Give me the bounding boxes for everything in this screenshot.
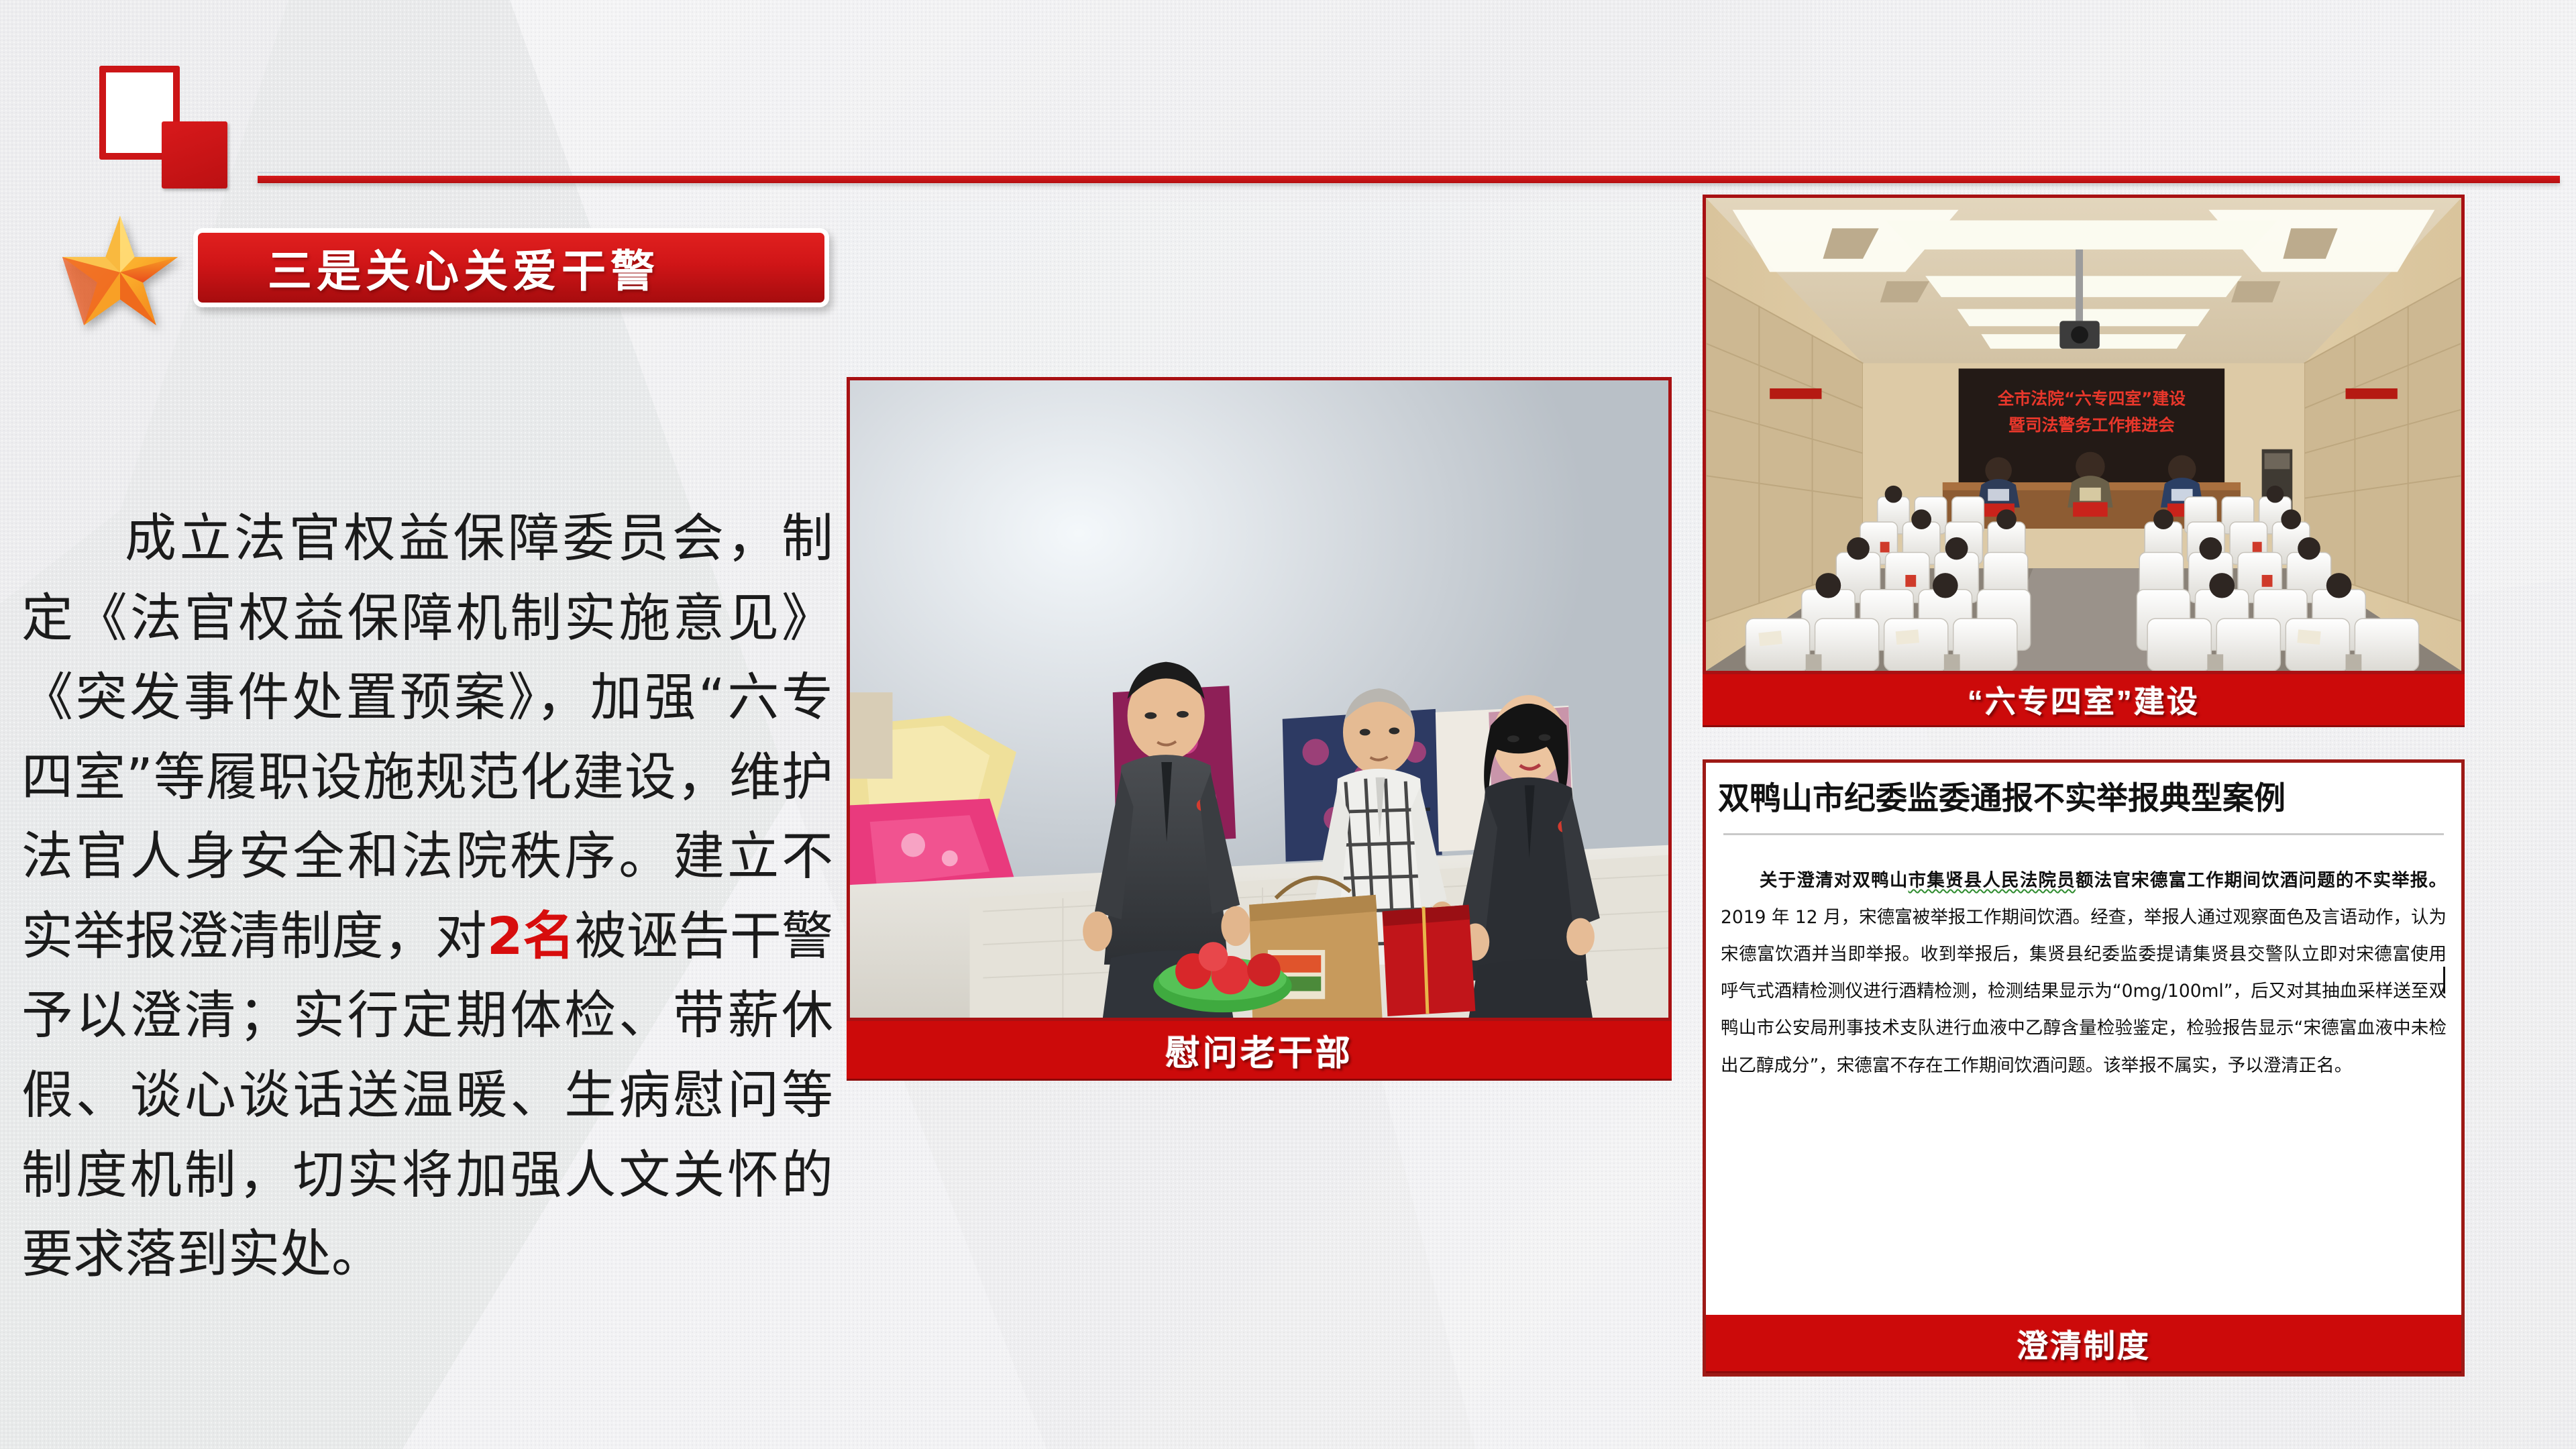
notice-body-text: 关于澄清对双鸭山市集贤县人民法院员额法官宋德富工作期间饮酒问题的不实举报。201… — [1706, 835, 2461, 1315]
notice-header: 双鸭山市纪委监委通报不实举报典型案例 — [1706, 763, 2461, 835]
home-visit-photo-card: 慰问老干部 — [847, 377, 1672, 1081]
logo-solid-square — [162, 121, 227, 189]
double-square-logo-icon — [99, 66, 254, 193]
text-cursor-icon — [2443, 967, 2445, 994]
home-visit-photo — [847, 377, 1672, 1021]
section-title-label: 三是关心关爱干警 — [268, 235, 659, 300]
conference-room-illustration: 全市法院“六专四室”建设 暨司法警务工作推进会 — [1706, 198, 2461, 671]
notice-lead-part2: 额法官宋德富工作期间饮酒问题的不实举报。 — [2076, 870, 2447, 891]
notice-lead-spellcheck: 市集贤县人民法院员 — [1909, 870, 2076, 891]
header-red-rule — [258, 176, 2560, 183]
home-visit-caption-label: 慰问老干部 — [1165, 1025, 1353, 1075]
conference-caption-bar: “六专四室”建设 — [1703, 674, 2465, 727]
conference-screen-line2: 暨司法警务工作推进会 — [2008, 415, 2175, 435]
body-paragraph: 成立法官权益保障委员会，制定《法官权益保障机制实施意见》《突发事件处置预案》，加… — [21, 500, 833, 1295]
conference-photo: 全市法院“六专四室”建设 暨司法警务工作推进会 — [1703, 195, 2465, 674]
section-title-banner: 三是关心关爱干警 — [193, 228, 829, 307]
notice-caption-label: 澄清制度 — [2017, 1320, 2151, 1366]
conference-caption-label: “六专四室”建设 — [1968, 678, 2200, 722]
body-highlight-count: 2名 — [487, 907, 575, 967]
notice-caption-bar: 澄清制度 — [1706, 1315, 2461, 1373]
conference-photo-card: 全市法院“六专四室”建设 暨司法警务工作推进会 — [1703, 195, 2465, 731]
notice-title: 双鸭山市纪委监委通报不实举报典型案例 — [1718, 772, 2449, 818]
home-visit-illustration — [850, 380, 1668, 1018]
notice-body-main: 2019 年 12 月，宋德富被举报工作期间饮酒。经查，举报人通过观察面色及言语… — [1721, 907, 2447, 1075]
header-hairline — [258, 172, 2560, 173]
home-visit-caption-bar: 慰问老干部 — [847, 1021, 1672, 1081]
notice-lead-part1: 关于澄清对双鸭山 — [1760, 870, 1909, 891]
conference-screen-line1: 全市法院“六专四室”建设 — [1997, 389, 2186, 409]
body-paragraph-part1: 成立法官权益保障委员会，制定《法官权益保障机制实施意见》《突发事件处置预案》，加… — [21, 509, 833, 967]
notice-document-card: 双鸭山市纪委监委通报不实举报典型案例 关于澄清对双鸭山市集贤县人民法院员额法官宋… — [1703, 759, 2465, 1377]
five-point-star-icon — [58, 213, 182, 331]
